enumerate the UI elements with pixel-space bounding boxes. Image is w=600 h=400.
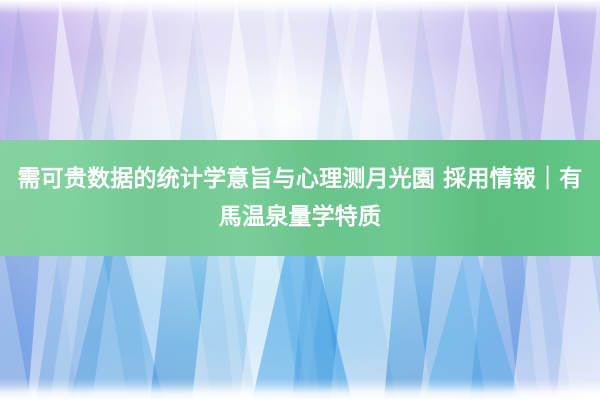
decorative-banner: 需可贵数据的统计学意旨与心理测月光園 採用情報｜有馬温泉量学特质	[0, 0, 600, 400]
bottom-edge-fade	[0, 378, 600, 400]
caption-band: 需可贵数据的统计学意旨与心理测月光園 採用情報｜有馬温泉量学特质	[0, 140, 600, 256]
top-edge-fade	[0, 0, 600, 14]
caption-title: 需可贵数据的统计学意旨与心理测月光園 採用情報｜有馬温泉量学特质	[0, 160, 600, 236]
